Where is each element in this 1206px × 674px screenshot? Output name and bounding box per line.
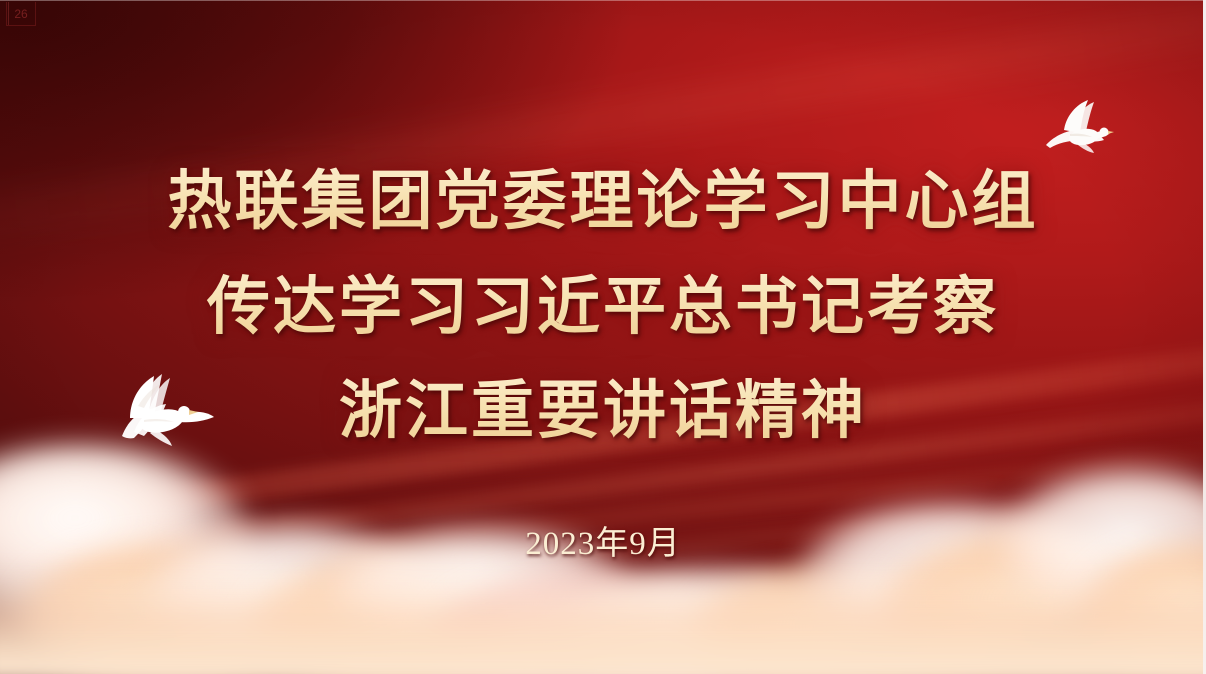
corner-page-marker: 26	[6, 2, 36, 26]
title-line-3: 浙江重要讲话精神	[0, 358, 1206, 462]
slide-edge-top	[0, 0, 1206, 1]
title-slide: 热联集团党委理论学习中心组 传达学习习近平总书记考察 浙江重要讲话精神 2023…	[0, 0, 1206, 674]
title-block: 热联集团党委理论学习中心组 传达学习习近平总书记考察 浙江重要讲话精神	[0, 150, 1206, 462]
title-line-1: 热联集团党委理论学习中心组	[0, 150, 1206, 254]
title-line-2: 传达学习习近平总书记考察	[0, 254, 1206, 358]
date-label: 2023年9月	[0, 516, 1206, 564]
